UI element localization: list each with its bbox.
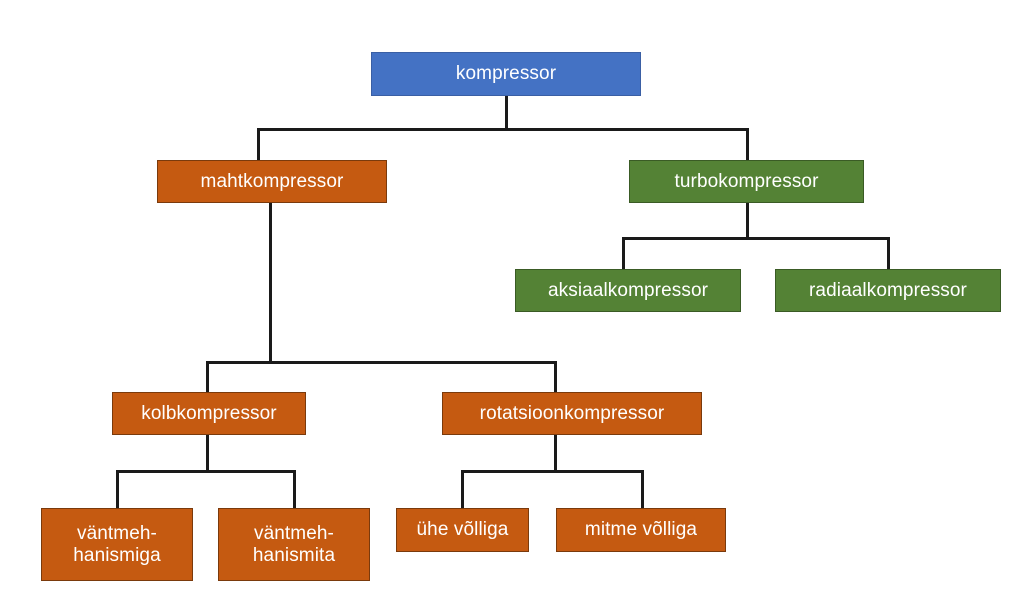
connector-turbokompressor-stem [746,202,749,240]
node-turbokompressor[interactable]: turbokompressor [629,160,864,203]
connector-to-vantmehhanismita [293,470,296,509]
connector-kompressor-stem [505,95,508,131]
connector-rotatsioon-children-bar [461,470,644,473]
node-kompressor[interactable]: kompressor [371,52,641,96]
connector-to-aksiaalkompressor [622,237,625,270]
connector-to-uhe-volliga [461,470,464,509]
connector-to-kolbkompressor [206,361,209,393]
connector-kolbkompressor-stem [206,431,209,473]
connector-level1-bar [257,128,749,131]
connector-maht-children-bar [206,361,557,364]
node-rotatsioonkompressor[interactable]: rotatsioonkompressor [442,392,702,435]
connector-to-vantmehhanismiga [116,470,119,509]
node-kolbkompressor[interactable]: kolbkompressor [112,392,306,435]
compressor-taxonomy-diagram: kompressor mahtkompressor turbokompresso… [0,0,1024,599]
node-mahtkompressor[interactable]: mahtkompressor [157,160,387,203]
connector-to-radiaalkompressor [887,237,890,270]
node-vantmehhanismita[interactable]: väntmeh- hanismita [218,508,370,581]
connector-mahtkompressor-stem [269,202,272,364]
node-vantmehhanismiga[interactable]: väntmeh- hanismiga [41,508,193,581]
node-aksiaalkompressor[interactable]: aksiaalkompressor [515,269,741,312]
node-radiaalkompressor[interactable]: radiaalkompressor [775,269,1001,312]
connector-turbo-children-bar [622,237,890,240]
connector-kolb-children-bar [116,470,296,473]
connector-rotatsioonkompressor-stem [554,431,557,473]
connector-to-mitme-volliga [641,470,644,509]
node-mitme-volliga[interactable]: mitme võlliga [556,508,726,552]
node-uhe-volliga[interactable]: ühe võlliga [396,508,529,552]
connector-to-rotatsioonkompressor [554,361,557,393]
